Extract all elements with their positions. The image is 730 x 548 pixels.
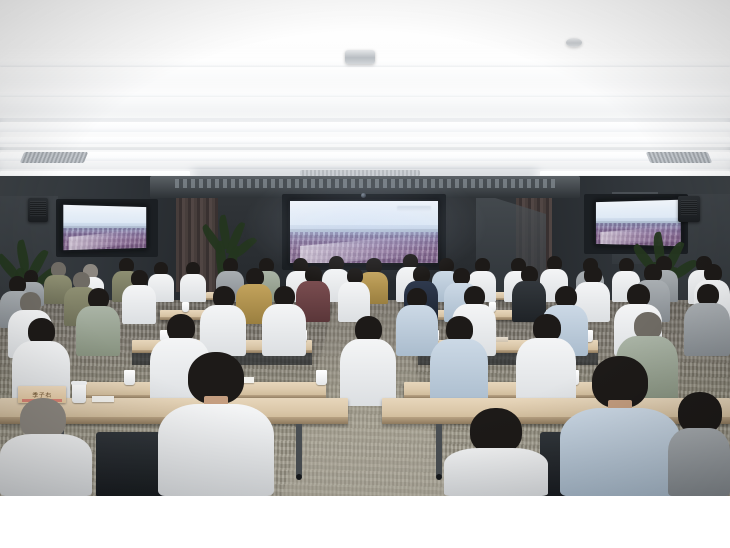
desk-leg bbox=[436, 424, 442, 476]
attendee bbox=[338, 268, 370, 322]
attendee-torso bbox=[560, 408, 680, 496]
photo-canvas: 张建华 bbox=[0, 0, 730, 548]
attendee-torso bbox=[430, 339, 488, 406]
handout-paper bbox=[92, 396, 114, 402]
conference-room-photo: 张建华 bbox=[0, 0, 730, 496]
attendee-torso bbox=[340, 339, 396, 406]
attendee bbox=[684, 284, 730, 356]
attendee bbox=[430, 316, 488, 406]
cup-lid bbox=[71, 381, 87, 385]
screen-bezel bbox=[61, 203, 148, 253]
ceiling-light-strip bbox=[0, 92, 730, 97]
ceiling-rail bbox=[0, 147, 730, 150]
ceiling-rail bbox=[0, 166, 730, 169]
wall-speaker bbox=[28, 198, 48, 222]
desk-caster bbox=[436, 474, 442, 480]
ceiling-light-strip bbox=[0, 152, 730, 161]
attendee-torso bbox=[262, 304, 306, 356]
desk-caster bbox=[296, 474, 302, 480]
ceiling-projector-icon bbox=[345, 50, 375, 64]
paper-cup bbox=[182, 302, 189, 312]
air-vent-grille bbox=[646, 152, 712, 163]
paper-cup bbox=[316, 370, 327, 385]
attendee bbox=[76, 288, 120, 356]
wall-speaker bbox=[678, 196, 700, 222]
attendee bbox=[158, 352, 274, 496]
left-led-screen bbox=[61, 203, 148, 253]
attendee-torso bbox=[668, 428, 730, 496]
lighting-truss bbox=[175, 179, 555, 188]
air-vent-grille bbox=[20, 152, 88, 163]
attendee-torso bbox=[76, 306, 120, 356]
attendee-torso bbox=[444, 448, 548, 496]
attendee-torso bbox=[158, 404, 274, 496]
attendee-torso bbox=[684, 303, 730, 356]
attendee bbox=[0, 398, 92, 496]
ceiling-light-strip bbox=[0, 137, 730, 144]
paper-cup bbox=[124, 370, 135, 385]
desk-leg bbox=[296, 424, 302, 476]
attendee-torso bbox=[0, 434, 92, 496]
ceiling-light-strip bbox=[0, 122, 730, 132]
attendee bbox=[340, 316, 396, 406]
attendee bbox=[668, 392, 730, 496]
attendee bbox=[262, 286, 306, 356]
attendee bbox=[560, 356, 680, 496]
camera-icon bbox=[361, 193, 366, 198]
attendee bbox=[444, 408, 548, 496]
smoke-detector-icon bbox=[566, 38, 582, 47]
